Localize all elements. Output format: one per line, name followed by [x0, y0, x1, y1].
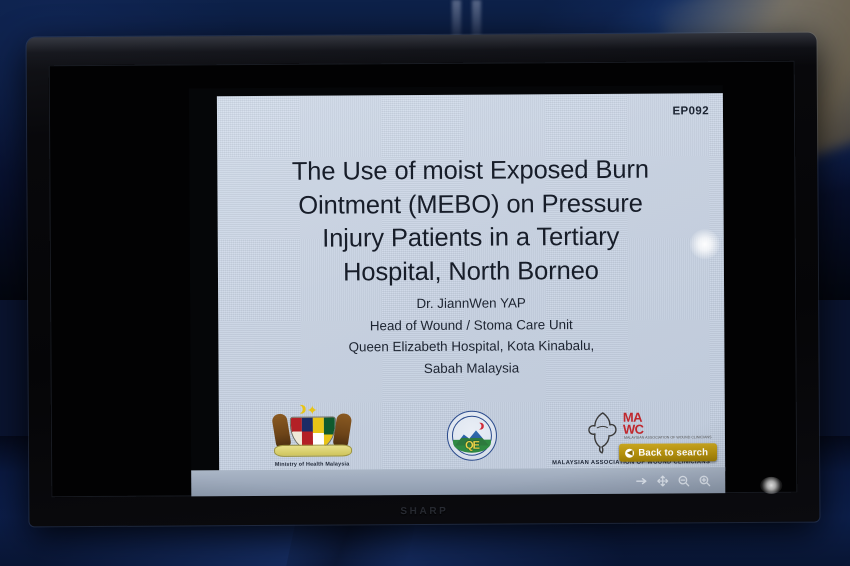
- poster-code: EP092: [672, 105, 709, 117]
- display-monitor: SHARP EP092 The Use of moist Exposed Bur…: [27, 33, 820, 527]
- poster-title-line: Injury Patients in a Tertiary: [242, 221, 700, 257]
- malaysia-coat-of-arms-icon: ✦: [237, 403, 387, 460]
- screen-area: EP092 The Use of moist Exposed Burn Oint…: [49, 61, 798, 498]
- poster-viewer: EP092 The Use of moist Exposed Burn Oint…: [189, 85, 725, 496]
- moh-logo: ✦ Ministry of Health Malaysia: [237, 403, 387, 468]
- back-to-search-label: Back to search: [638, 447, 708, 458]
- back-arrow-circle-icon: ◀: [625, 448, 634, 457]
- dove-icon: [585, 410, 619, 454]
- poster-title: The Use of moist Exposed Burn Ointment (…: [241, 153, 700, 290]
- poster-title-line: Ointment (MEBO) on Pressure: [241, 187, 699, 223]
- toolbar-glare-highlight: [760, 477, 782, 494]
- next-arrow-icon[interactable]: [635, 474, 648, 487]
- poster-title-line: Hospital, North Borneo: [242, 254, 700, 290]
- author-institution: Queen Elizabeth Hospital, Kota Kinabalu,: [242, 335, 700, 360]
- qeh-logo-letters: QE: [448, 440, 496, 452]
- monitor-brand-label: SHARP: [29, 504, 819, 520]
- queen-elizabeth-hospital-emblem-icon: QE: [447, 411, 497, 461]
- zoom-out-icon[interactable]: [677, 474, 690, 487]
- back-to-search-button[interactable]: ◀ Back to search: [619, 443, 717, 462]
- pan-move-icon[interactable]: [656, 474, 669, 487]
- photo-scene: SHARP EP092 The Use of moist Exposed Bur…: [0, 0, 850, 566]
- mawc-lettermark: MA WC: [623, 412, 644, 436]
- author-name: Dr. JiannWen YAP: [242, 291, 700, 316]
- qeh-logo: QE: [405, 410, 539, 461]
- poster-title-line: The Use of moist Exposed Burn: [241, 153, 699, 189]
- poster-authors: Dr. JiannWen YAP Head of Wound / Stoma C…: [242, 291, 701, 381]
- zoom-in-icon[interactable]: [698, 474, 711, 487]
- author-role: Head of Wound / Stoma Care Unit: [242, 313, 700, 338]
- mawc-subtext: MALAYSIAN ASSOCIATION OF WOUND CLINICIAN…: [624, 435, 712, 441]
- viewer-toolbar: [191, 467, 725, 496]
- moh-logo-caption: Ministry of Health Malaysia: [237, 461, 387, 468]
- author-location: Sabah Malaysia: [242, 356, 700, 381]
- poster-slide[interactable]: EP092 The Use of moist Exposed Burn Oint…: [217, 93, 725, 474]
- mawc-letters-bottom: WC: [623, 424, 644, 436]
